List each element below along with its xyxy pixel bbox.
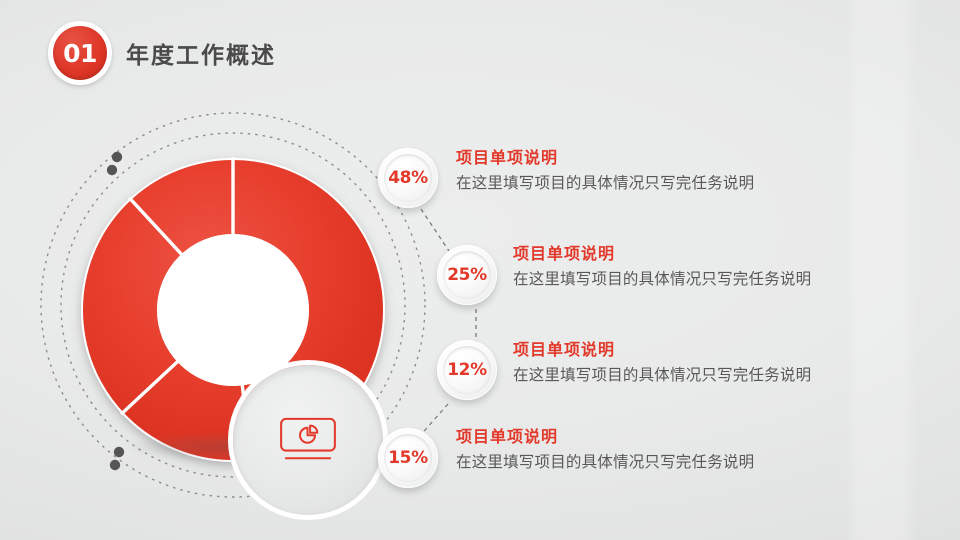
percent-badge-48[interactable]: 48%: [378, 148, 438, 208]
pie-slice-icon: [310, 426, 317, 433]
percent-badge-48-label: 48%: [388, 168, 428, 188]
presentation-pie-chart-icon: [277, 416, 339, 464]
section-number-text: 01: [53, 26, 107, 80]
legend-item-1-desc: 在这里填写项目的具体情况只写完任务说明: [456, 171, 754, 193]
legend-item-2-title: 项目单项说明: [513, 240, 811, 264]
legend-item-3[interactable]: 项目单项说明 在这里填写项目的具体情况只写完任务说明: [513, 336, 811, 385]
donut-chart: [68, 130, 398, 480]
section-number-badge: 01: [48, 21, 112, 85]
legend-item-1[interactable]: 项目单项说明 在这里填写项目的具体情况只写完任务说明: [456, 144, 754, 193]
slide-canvas: 01 年度工作概述: [0, 0, 960, 540]
connector-48-to-25: [421, 209, 449, 251]
slide-header: 01 年度工作概述: [0, 0, 960, 104]
donut-center-hub: [233, 365, 383, 515]
legend-item-2-desc: 在这里填写项目的具体情况只写完任务说明: [513, 267, 811, 289]
legend-item-4-desc: 在这里填写项目的具体情况只写完任务说明: [456, 450, 754, 472]
section-number-disc: 01: [53, 26, 107, 80]
pie-body-icon: [300, 428, 315, 443]
page-title: 年度工作概述: [126, 36, 276, 70]
percent-badge-15-label: 15%: [388, 448, 428, 468]
legend-item-3-desc: 在这里填写项目的具体情况只写完任务说明: [513, 363, 811, 385]
legend-item-4-title: 项目单项说明: [456, 423, 754, 447]
legend-item-1-title: 项目单项说明: [456, 144, 754, 168]
legend-item-4[interactable]: 项目单项说明 在这里填写项目的具体情况只写完任务说明: [456, 423, 754, 472]
legend-item-2[interactable]: 项目单项说明 在这里填写项目的具体情况只写完任务说明: [513, 240, 811, 289]
percent-badge-25[interactable]: 25%: [437, 245, 497, 305]
percent-badge-12-label: 12%: [447, 360, 487, 380]
percent-badge-25-label: 25%: [447, 265, 487, 285]
legend-item-3-title: 项目单项说明: [513, 336, 811, 360]
percent-badge-15[interactable]: 15%: [378, 428, 438, 488]
donut-hole-ring: [157, 234, 309, 386]
percent-badge-12[interactable]: 12%: [437, 340, 497, 400]
